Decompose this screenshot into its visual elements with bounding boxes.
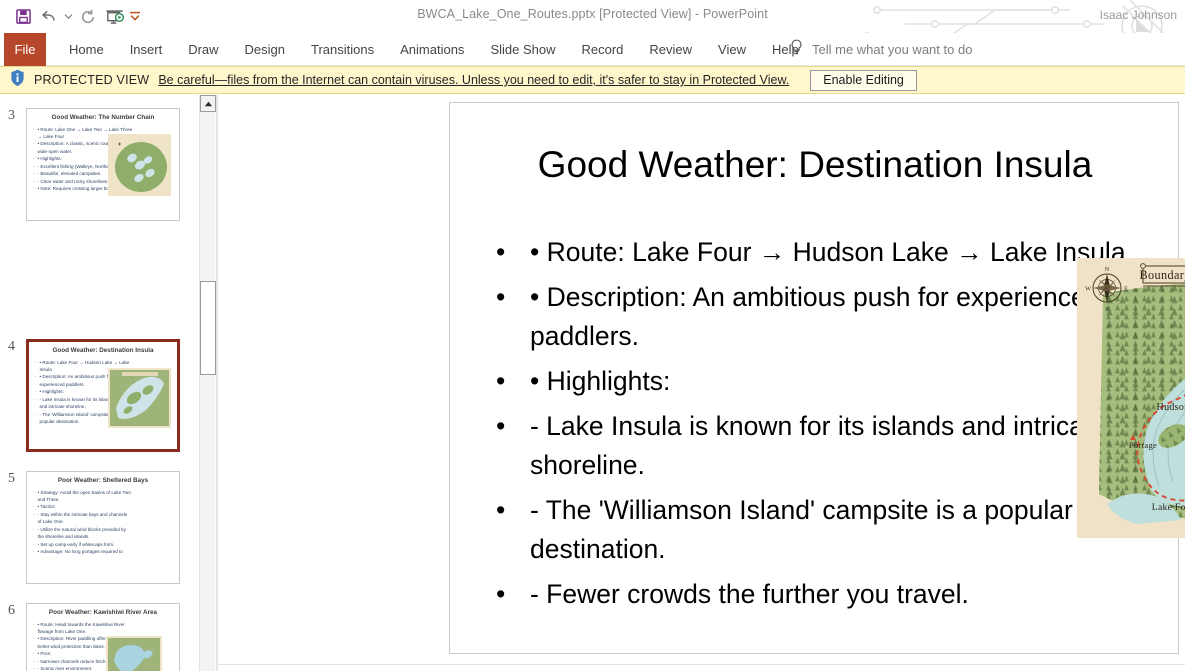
thumb-line: · - Utilize the natural wind blocks prov… [33,526,173,533]
slide-thumbnail-3[interactable]: Good Weather: The Number Chain ·• Route:… [26,108,180,221]
thumb-line: ·• Advantage: No long portages required … [33,548,173,555]
map-title: Boundary Waters Canoe Area [1139,268,1185,282]
thumb-line: · - Stay within the intricate bays and c… [33,511,173,518]
ribbon-tabs: Home Insert Draw Design Transitions Anim… [56,33,812,66]
svg-text:N: N [1105,266,1110,273]
thumb-body-5: ·• Strategy: Avoid the open basins of La… [27,488,179,556]
thumb-line: ·• Tactics: [33,503,173,510]
slide-thumbnail-4[interactable]: Good Weather: Destination Insula ·• Rout… [26,339,180,452]
slide-number-6: 6 [0,603,26,671]
slide-thumbnail-5[interactable]: Poor Weather: Sheltered Bays ·• Strategy… [26,471,180,584]
tab-transitions[interactable]: Transitions [298,33,387,66]
slide-bullet: • - Fewer crowds the further you travel. [496,575,1156,614]
thumb-map-image-3 [108,134,171,196]
bullet-text: • Route: Lake Four → Hudson Lake → Lake … [530,233,1156,272]
protected-view-label: PROTECTED VIEW [34,73,149,87]
thumb-line: ·flowage from Lake One. [33,628,173,635]
bullet-glyph: • [496,491,530,530]
map-label-lake-four: Lake Four [1152,502,1185,513]
svg-text:W: W [1085,285,1091,292]
tab-home[interactable]: Home [56,33,117,66]
lightbulb-icon [790,39,803,61]
slide-body-placeholder[interactable]: • • Route: Lake Four → Hudson Lake → Lak… [496,233,1156,620]
tab-design[interactable]: Design [232,33,298,66]
thumb-line: ·• Route: Head towards the Kawishiwi Riv… [33,621,173,628]
ribbon-tab-bar: File Home Insert Draw Design Transitions… [0,33,1185,66]
thumb-title-4: Good Weather: Destination Insula [29,342,177,358]
tab-draw[interactable]: Draw [175,33,231,66]
bullet-text: - The 'Williamson Island' campsite is a … [530,491,1156,569]
thumb-line: ·• Route: Lake One → Lake Two → Lake Thr… [33,126,173,133]
thumb-line: ·and Three. [33,496,173,503]
slide-number-5: 5 [0,471,26,584]
slide-thumbnail-6[interactable]: Poor Weather: Kawishiwi River Area ·• Ro… [26,603,180,671]
slide-number-4: 4 [0,339,26,452]
enable-editing-button[interactable]: Enable Editing [810,70,917,91]
slide-bullet: • - Lake Insula is known for its islands… [496,407,1156,485]
scroll-up-arrow-icon[interactable] [200,95,216,112]
tab-record[interactable]: Record [568,33,636,66]
bullet-text: - Lake Insula is known for its islands a… [530,407,1156,485]
powerpoint-window: BWCA_Lake_One_Routes.pptx [Protected Vie… [0,0,1185,671]
tab-review[interactable]: Review [636,33,705,66]
svg-text:E: E [1124,285,1128,292]
bullet-glyph: • [496,278,530,317]
tab-slide-show[interactable]: Slide Show [477,33,568,66]
bullet-glyph: • [496,575,530,614]
thumb-title-3: Good Weather: The Number Chain [27,109,179,125]
bullet-glyph: • [496,233,530,272]
title-bar: BWCA_Lake_One_Routes.pptx [Protected Vie… [0,0,1185,33]
svg-text:S: S [1105,306,1109,313]
thumb-line: · - Set up camp early if whitecaps form. [33,541,173,548]
thumb-line: ·• Route: Lake Four → Hudson Lake → Lake [35,359,171,366]
thumbnail-row-5[interactable]: 5 Poor Weather: Sheltered Bays ·• Strate… [0,471,180,584]
thumbnail-row-4[interactable]: 4 Good Weather: Destination Insula ·• Ro… [0,339,180,452]
current-slide[interactable]: Good Weather: Destination Insula • • Rou… [449,102,1179,654]
thumbnail-row-3[interactable]: 3 Good Weather: The Number Chain ·• Rout… [0,108,180,221]
document-title: BWCA_Lake_One_Routes.pptx [Protected Vie… [0,7,1185,21]
bullet-glyph: • [496,407,530,446]
protected-view-bar: PROTECTED VIEW Be careful—files from the… [0,66,1185,94]
slide-bullet: • • Description: An ambitious push for e… [496,278,1156,356]
slide-editing-stage: Good Weather: Destination Insula • • Rou… [218,95,1185,671]
bullet-text: • Highlights: [530,362,1156,401]
thumbnail-pane-scrollbar[interactable] [199,95,215,671]
scrollbar-thumb[interactable] [200,281,216,375]
tab-file[interactable]: File [4,33,46,66]
thumb-line: ·of Lake One. [33,518,173,525]
protected-view-message[interactable]: Be careful—files from the Internet can c… [158,73,789,87]
info-icon [10,69,25,92]
bullet-text: • Description: An ambitious push for exp… [530,278,1156,356]
slide-thumbnail-pane[interactable]: 3 Good Weather: The Number Chain ·• Rout… [0,95,198,671]
slide-bullet: • • Highlights: [496,362,1156,401]
slide-bullet: • • Route: Lake Four → Hudson Lake → Lak… [496,233,1156,272]
thumb-title-5: Poor Weather: Sheltered Bays [27,472,179,488]
thumb-map-image-4 [108,368,171,428]
user-name[interactable]: Isaac Johnson [1100,8,1177,22]
tab-view[interactable]: View [705,33,759,66]
thumbnail-row-6[interactable]: 6 Poor Weather: Kawishiwi River Area ·• … [0,603,180,671]
thumb-title-6: Poor Weather: Kawishiwi River Area [27,604,179,620]
tell-me-search[interactable]: Tell me what you want to do [790,33,972,66]
thumb-line: ·the shoreline and islands. [33,533,173,540]
thumb-line: ·• Strategy: Avoid the open basins of La… [33,489,173,496]
slide-bullet: • - The 'Williamson Island' campsite is … [496,491,1156,569]
slide-title[interactable]: Good Weather: Destination Insula [490,145,1140,186]
slide-number-3: 3 [0,108,26,221]
tell-me-label: Tell me what you want to do [812,42,972,57]
tab-insert[interactable]: Insert [117,33,176,66]
bullet-glyph: • [496,362,530,401]
stage-bottom-divider [218,664,1185,665]
bullet-text: - Fewer crowds the further you travel. [530,575,1156,614]
tab-animations[interactable]: Animations [387,33,477,66]
map-label-portage: Portage [1129,440,1157,450]
map-label-hudson-lake: Hudson Lake [1157,402,1185,413]
thumb-map-image-6 [106,636,162,671]
map-title-cartouche: Boundary Waters Canoe Area [1139,264,1185,286]
bwca-map-image[interactable]: Boundary Waters Canoe Area N E S W [1077,258,1185,538]
